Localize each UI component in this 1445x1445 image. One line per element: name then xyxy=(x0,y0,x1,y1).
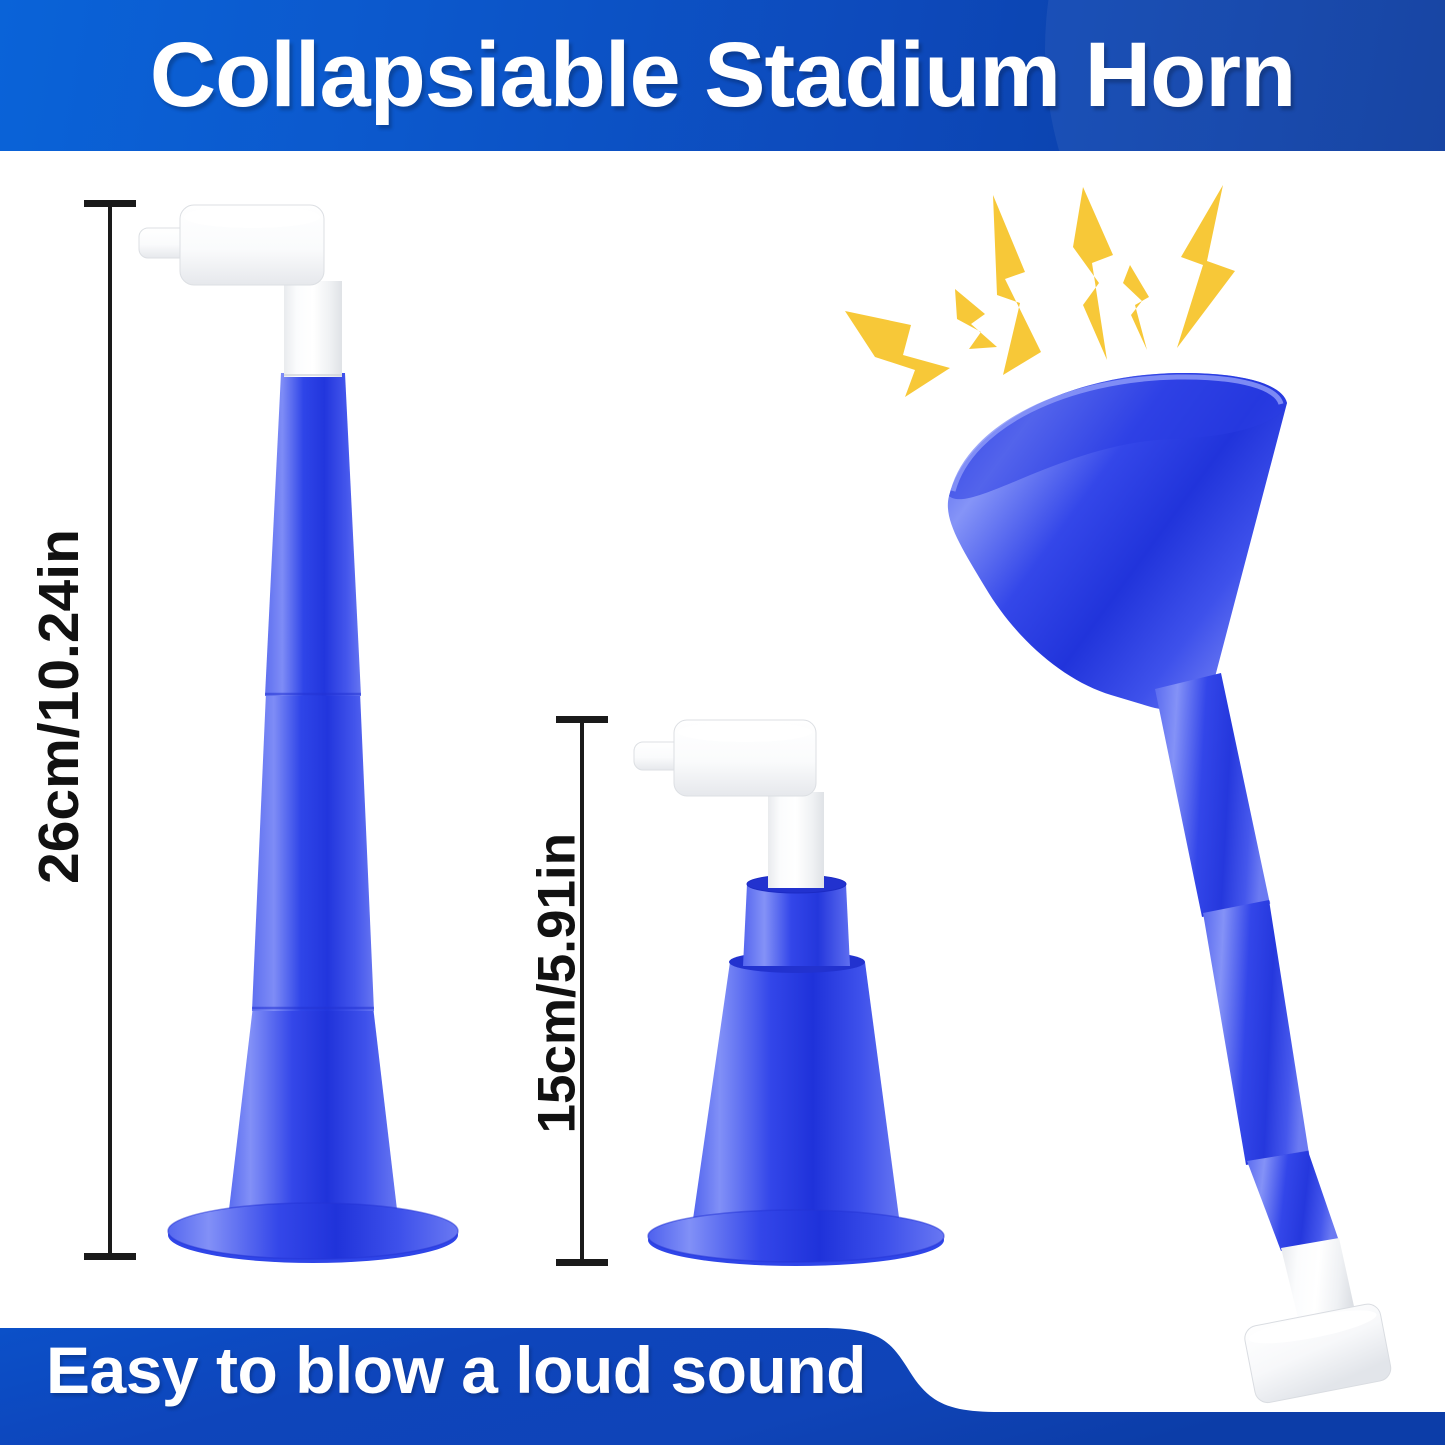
page-title: Collapsiable Stadium Horn xyxy=(0,0,1445,151)
horn-lower-tube xyxy=(1247,1151,1339,1251)
dimension-extended xyxy=(86,200,134,1260)
mouthpiece xyxy=(139,205,324,285)
dimension-cap-bottom xyxy=(556,1259,608,1266)
horn-upper-tube xyxy=(1155,673,1270,917)
horn-bell xyxy=(948,373,1287,709)
horn-bell xyxy=(168,1006,458,1263)
dimension-cap-bottom xyxy=(84,1253,136,1260)
horn-bell xyxy=(648,951,944,1266)
horn-white-neck xyxy=(284,281,342,377)
horn-mid-segment xyxy=(252,692,374,1011)
horn-white-neck xyxy=(768,792,824,888)
product-infographic: Collapsiable Stadium Horn xyxy=(0,0,1445,1445)
extended-horn xyxy=(110,195,530,1270)
footer-caption: Easy to blow a loud sound xyxy=(46,1332,866,1408)
dimension-line xyxy=(108,204,112,1256)
horn-collar xyxy=(743,875,850,966)
sounding-horn xyxy=(915,355,1385,1415)
horn-upper-segment xyxy=(265,373,361,696)
footer-banner: Easy to blow a loud sound xyxy=(0,1310,1445,1445)
dimension-label-extended: 26cm/10.24in xyxy=(26,554,92,884)
horn-mid-tube xyxy=(1203,900,1309,1165)
header-banner: Collapsiable Stadium Horn xyxy=(0,0,1445,151)
mouthpiece xyxy=(634,720,816,796)
dimension-label-collapsed: 15cm/5.91in xyxy=(527,854,588,1134)
